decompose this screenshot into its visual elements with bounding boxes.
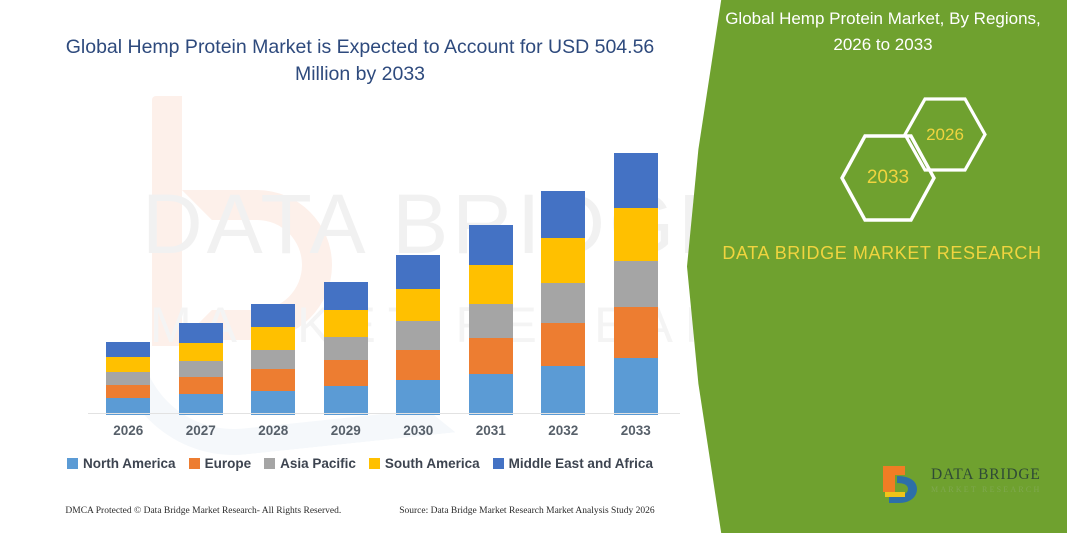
bar-group	[469, 225, 513, 415]
legend-item-south-america[interactable]: South America	[369, 456, 480, 471]
bar-segment	[179, 361, 223, 377]
legend-swatch-icon	[369, 458, 380, 469]
bar-segment	[324, 386, 368, 415]
bar-segment	[324, 360, 368, 385]
legend-item-north-america[interactable]: North America	[67, 456, 176, 471]
bar-segment	[179, 323, 223, 343]
legend-label: Middle East and Africa	[509, 456, 653, 471]
bar-segment	[179, 343, 223, 362]
bar-segment	[324, 282, 368, 310]
hexagon-2033-label: 2033	[867, 167, 909, 189]
hexagon-badge-2033: 2033	[838, 132, 938, 224]
legend-item-europe[interactable]: Europe	[189, 456, 252, 471]
legend-label: Asia Pacific	[280, 456, 356, 471]
bar-group	[106, 342, 150, 415]
legend-label: South America	[385, 456, 480, 471]
bar-segment	[251, 369, 295, 391]
bar-group	[396, 255, 440, 415]
x-axis-label: 2033	[601, 423, 671, 438]
legend-label: Europe	[205, 456, 252, 471]
bar-segment	[541, 191, 585, 238]
x-axis-label: 2031	[456, 423, 526, 438]
bar-segment	[251, 327, 295, 349]
bar-group	[251, 304, 295, 415]
data-bridge-logo-icon	[877, 462, 925, 508]
bar-segment	[541, 283, 585, 323]
page-title: Global Hemp Protein Market is Expected t…	[60, 34, 660, 88]
bar-segment	[396, 289, 440, 321]
legend-swatch-icon	[67, 458, 78, 469]
bar-segment	[541, 366, 585, 415]
logo-wordmark: DATA BRIDGE	[931, 466, 1059, 483]
bar-segment	[614, 358, 658, 415]
regions-panel-title: Global Hemp Protein Market, By Regions, …	[723, 6, 1043, 58]
bar-segment	[469, 374, 513, 415]
hexagon-2026-label: 2026	[926, 125, 964, 145]
footer-source: Source: Data Bridge Market Research Mark…	[399, 506, 654, 516]
x-axis-labels: 20262027202820292030203120322033	[92, 423, 672, 445]
x-axis-label: 2032	[528, 423, 598, 438]
legend-swatch-icon	[189, 458, 200, 469]
bar-segment	[324, 310, 368, 336]
legend-item-middle-east-and-africa[interactable]: Middle East and Africa	[493, 456, 653, 471]
bar-segment	[251, 304, 295, 327]
bar-group	[324, 282, 368, 415]
bar-segment	[396, 255, 440, 289]
legend-item-asia-pacific[interactable]: Asia Pacific	[264, 456, 356, 471]
logo-tagline: MARKET RESEARCH	[931, 485, 1059, 495]
bar-segment	[396, 380, 440, 415]
bar-group	[179, 323, 223, 415]
chart-legend: North AmericaEuropeAsia PacificSouth Ame…	[0, 456, 720, 471]
bar-segment	[106, 372, 150, 385]
bar-segment	[541, 323, 585, 366]
legend-swatch-icon	[493, 458, 504, 469]
x-axis-label: 2026	[93, 423, 163, 438]
bar-group	[614, 153, 658, 415]
legend-swatch-icon	[264, 458, 275, 469]
bar-segment	[469, 225, 513, 265]
bar-segment	[106, 357, 150, 372]
bar-segment	[179, 377, 223, 395]
x-axis-label: 2029	[311, 423, 381, 438]
bar-segment	[251, 391, 295, 415]
footer: DMCA Protected © Data Bridge Market Rese…	[0, 506, 720, 516]
stacked-bar-chart	[92, 120, 672, 415]
legend-label: North America	[83, 456, 176, 471]
bar-segment	[251, 350, 295, 370]
bar-segment	[614, 153, 658, 208]
bar-segment	[614, 261, 658, 308]
chart-panel: DATA BRIDGE MARKET RESEARCH Global Hemp …	[0, 0, 720, 533]
bar-segment	[541, 238, 585, 283]
bar-segment	[396, 350, 440, 380]
infographic-root: DATA BRIDGE MARKET RESEARCH Global Hemp …	[0, 0, 1067, 533]
x-axis-label: 2030	[383, 423, 453, 438]
x-axis-label: 2027	[166, 423, 236, 438]
bar-segment	[614, 208, 658, 261]
x-axis-line	[88, 413, 680, 414]
x-axis-label: 2028	[238, 423, 308, 438]
bar-segment	[614, 307, 658, 358]
bar-segment	[469, 338, 513, 374]
bar-segment	[396, 321, 440, 349]
bar-segment	[179, 394, 223, 415]
bar-segment	[469, 265, 513, 303]
regions-panel: Global Hemp Protein Market, By Regions, …	[687, 0, 1067, 533]
company-logo: DATA BRIDGE MARKET RESEARCH	[877, 460, 1057, 512]
footer-copyright: DMCA Protected © Data Bridge Market Rese…	[65, 506, 341, 516]
bar-segment	[106, 385, 150, 399]
bar-segment	[469, 304, 513, 338]
bar-segment	[106, 342, 150, 358]
brand-name: DATA BRIDGE MARKET RESEARCH	[717, 238, 1047, 268]
bar-segment	[324, 337, 368, 360]
bar-group	[541, 191, 585, 415]
